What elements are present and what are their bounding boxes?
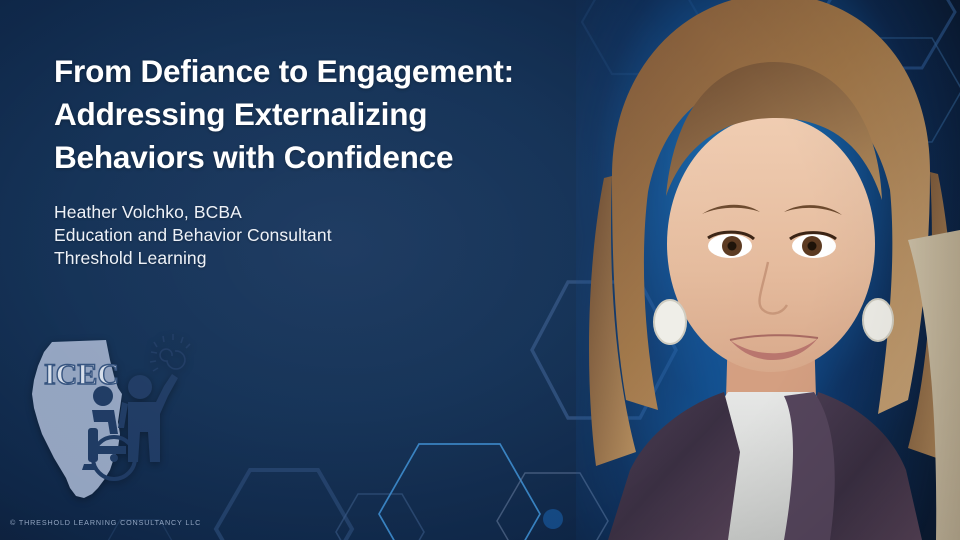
speaker-role: Education and Behavior Consultant [54, 224, 534, 247]
speaker-name: Heather Volchko, BCBA [54, 201, 534, 224]
icec-acronym: ICEC [44, 358, 119, 391]
speaker-info-block: Heather Volchko, BCBA Education and Beha… [54, 201, 534, 270]
sunburst-icon [150, 334, 190, 371]
speaker-organization: Threshold Learning [54, 247, 534, 270]
presentation-slide: From Defiance to Engagement: Addressing … [0, 0, 960, 540]
copyright-notice: © THRESHOLD LEARNING CONSULTANCY LLC [10, 518, 201, 527]
page-title: From Defiance to Engagement: Addressing … [54, 50, 574, 179]
presenter-portrait-photo [578, 0, 960, 540]
presenter-photo-panel [576, 0, 960, 540]
standing-figure [118, 374, 178, 462]
icec-logo: ICEC [14, 330, 199, 505]
title-block: From Defiance to Engagement: Addressing … [54, 50, 574, 179]
